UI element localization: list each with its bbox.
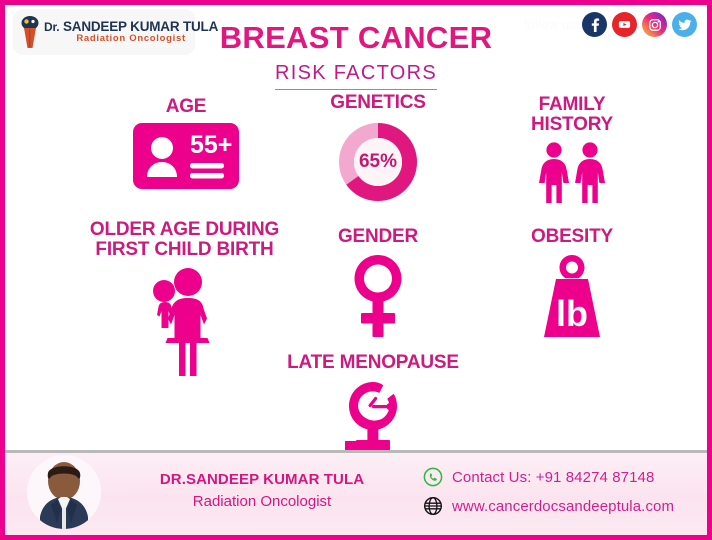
id-card-icon: 55+ (101, 123, 271, 189)
factor-obesity: OBESITY lb (487, 227, 657, 339)
donut-center-value: 65% (354, 138, 402, 186)
avatar (27, 455, 101, 529)
factor-late-menopause-label: LATE MENOPAUSE (258, 353, 488, 373)
genetics-donut-chart: 65% (293, 119, 463, 205)
two-women-icon (487, 141, 657, 203)
page-subtitle: RISK FACTORS (275, 62, 437, 90)
footer-doctor-name: DR.SANDEEP KUMAR TULA (117, 471, 407, 488)
website-row[interactable]: www.cancerdocsandeeptula.com (423, 496, 674, 516)
factor-gender-label: GENDER (293, 227, 463, 247)
footer: DR.SANDEEP KUMAR TULA Radiation Oncologi… (5, 450, 707, 535)
footer-doctor-info: DR.SANDEEP KUMAR TULA Radiation Oncologi… (117, 471, 407, 510)
factor-older-age-label: OLDER AGE DURING FIRST CHILD BIRTH (47, 220, 322, 260)
page-subtitle-wrap: RISK FACTORS (5, 62, 707, 90)
factor-obesity-label: OBESITY (487, 227, 657, 247)
age-value: 55+ (190, 131, 232, 159)
contact-info: Contact Us: +91 84274 87148 www.cancerdo… (423, 467, 674, 525)
obesity-unit-value: lb (556, 293, 588, 334)
whatsapp-icon (423, 467, 443, 487)
weight-icon: lb (487, 253, 657, 339)
factor-genetics-label: GENETICS (293, 93, 463, 113)
website-text: www.cancerdocsandeeptula.com (452, 498, 674, 515)
factor-family-history-label: FAMILY HISTORY (487, 95, 657, 135)
breast-cancer-risk-factors-poster: Dr. SANDEEP KUMAR TULA Radiation Oncolog… (0, 0, 712, 540)
globe-icon (423, 496, 443, 516)
factor-gender: GENDER (293, 227, 463, 339)
female-symbol-icon (293, 253, 463, 339)
contact-phone-text: Contact Us: +91 84274 87148 (452, 469, 654, 486)
factor-family-history: FAMILY HISTORY (487, 95, 657, 203)
footer-doctor-role: Radiation Oncologist (117, 493, 407, 510)
page-title: BREAST CANCER (5, 20, 707, 56)
factor-age-label: AGE (101, 97, 271, 117)
contact-phone-row[interactable]: Contact Us: +91 84274 87148 (423, 467, 674, 487)
factor-genetics: GENETICS 65% (293, 93, 463, 205)
factor-age: AGE 55+ (101, 97, 271, 189)
